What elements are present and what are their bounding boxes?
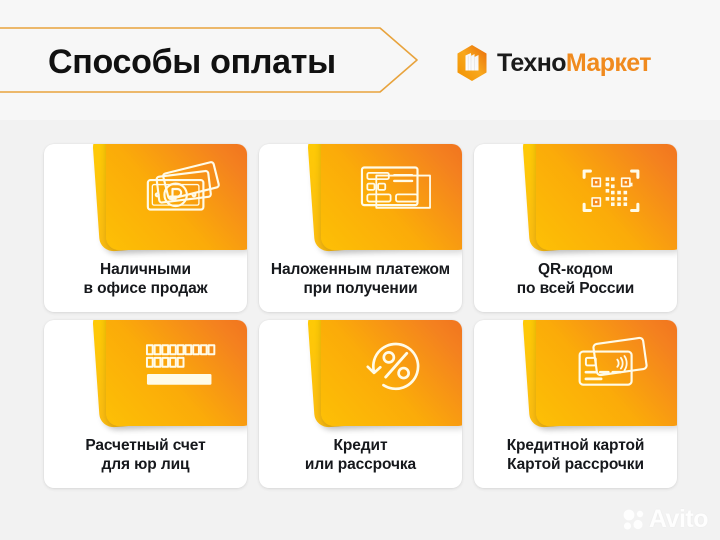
- payment-methods-grid: Наличными в офисе продаж: [44, 144, 678, 488]
- tile-front-layer: [536, 144, 677, 250]
- card-label-line1: Кредит: [334, 437, 388, 454]
- qr-code-scan-icon: [568, 154, 654, 224]
- tile-front-layer: [321, 320, 462, 426]
- payment-method-card[interactable]: Кредит или рассрочка: [259, 320, 462, 488]
- card-label: QR-кодом по всей России: [481, 260, 671, 299]
- tile-front-layer: [106, 144, 247, 250]
- card-label-line2: для юр лиц: [51, 455, 241, 474]
- card-label-line1: Наложенным платежом: [271, 261, 450, 278]
- card-label: Расчетный счет для юр лиц: [51, 436, 241, 475]
- credit-cards-contactless-icon: [568, 330, 654, 400]
- invoice-document-icon: [353, 154, 439, 224]
- card-label: Кредит или рассрочка: [266, 436, 456, 475]
- card-illustration: [259, 144, 462, 256]
- card-label-line2: Картой рассрочки: [481, 455, 671, 474]
- hexagon-logo-icon: [455, 44, 489, 82]
- card-illustration: [44, 144, 247, 256]
- tile-front-layer: [106, 320, 247, 426]
- avito-dots-icon: [622, 508, 646, 532]
- account-number-form-icon: [138, 330, 224, 400]
- page-title: Способы оплаты: [48, 40, 398, 84]
- tile-front-layer: [321, 144, 462, 250]
- payment-method-card[interactable]: QR-кодом по всей России: [474, 144, 677, 312]
- card-label-line2: в офисе продаж: [51, 279, 241, 298]
- logo-word-techno: Техно: [497, 51, 566, 76]
- brand-logo[interactable]: Техно Маркет: [455, 44, 651, 82]
- page-header: Способы оплаты: [0, 0, 720, 120]
- card-illustration: [259, 320, 462, 432]
- banknotes-ruble-icon: [138, 154, 224, 224]
- card-label-line2: при получении: [266, 279, 456, 298]
- card-label: Наличными в офисе продаж: [51, 260, 241, 299]
- card-illustration: [474, 320, 677, 432]
- payment-method-card[interactable]: Кредитной картой Картой рассрочки: [474, 320, 677, 488]
- payment-method-card[interactable]: Наличными в офисе продаж: [44, 144, 247, 312]
- logo-word-market: Маркет: [566, 51, 651, 76]
- card-illustration: [474, 144, 677, 256]
- card-label-line2: или рассрочка: [266, 455, 456, 474]
- card-label: Наложенным платежом при получении: [266, 260, 456, 299]
- avito-wordmark: Avito: [649, 507, 708, 532]
- card-label-line1: Расчетный счет: [85, 437, 205, 454]
- card-label-line1: Кредитной картой: [507, 437, 645, 454]
- card-label-line1: QR-кодом: [538, 261, 613, 278]
- tile-front-layer: [536, 320, 677, 426]
- percent-refresh-icon: [353, 330, 439, 400]
- payment-method-card[interactable]: Наложенным платежом при получении: [259, 144, 462, 312]
- card-label-line2: по всей России: [481, 279, 671, 298]
- avito-watermark: Avito: [622, 507, 708, 532]
- card-illustration: [44, 320, 247, 432]
- card-label: Кредитной картой Картой рассрочки: [481, 436, 671, 475]
- card-label-line1: Наличными: [100, 261, 191, 278]
- payment-method-card[interactable]: Расчетный счет для юр лиц: [44, 320, 247, 488]
